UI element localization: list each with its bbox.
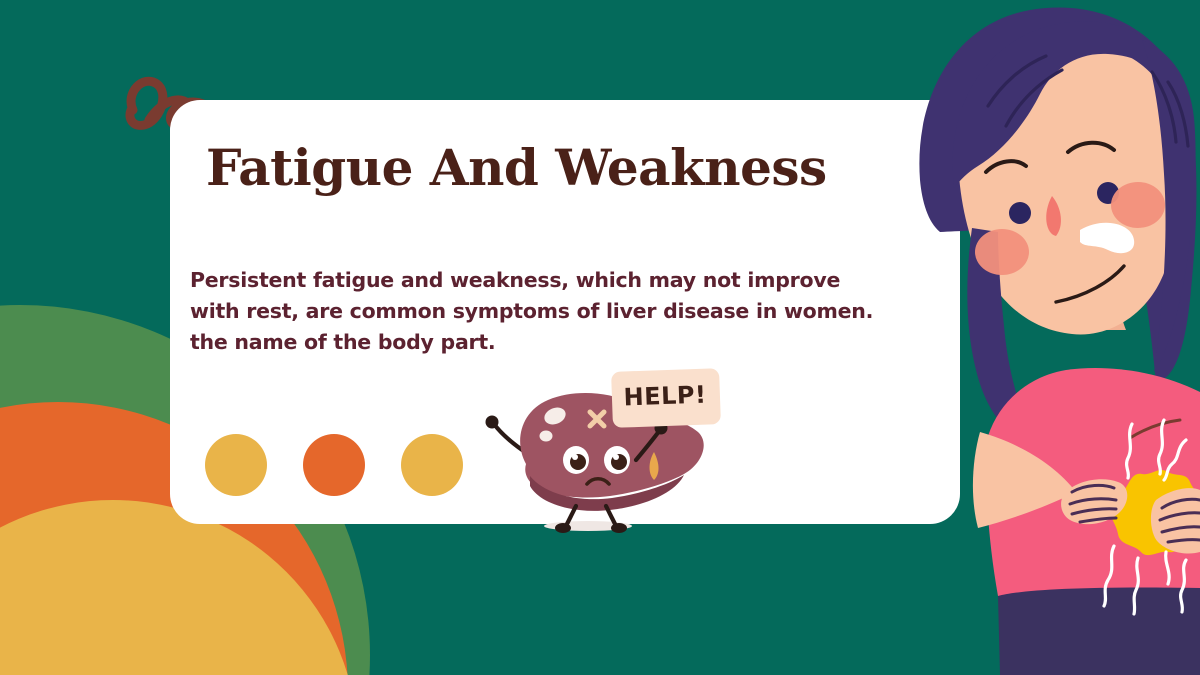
decorative-dot-row — [205, 434, 463, 496]
page-title: Fatigue And Weakness — [206, 138, 827, 197]
dot-yellow — [205, 434, 267, 496]
content-card: Fatigue And Weakness Persistent fatigue … — [170, 100, 960, 524]
dot-orange — [303, 434, 365, 496]
slide-canvas: Fatigue And Weakness Persistent fatigue … — [0, 0, 1200, 675]
liver-mascot: HELP! — [470, 368, 730, 533]
body-paragraph: Persistent fatigue and weakness, which m… — [190, 265, 890, 358]
liver-mascot-icon — [470, 368, 730, 533]
woman-illustration — [880, 0, 1200, 675]
dot-yellow-2 — [401, 434, 463, 496]
